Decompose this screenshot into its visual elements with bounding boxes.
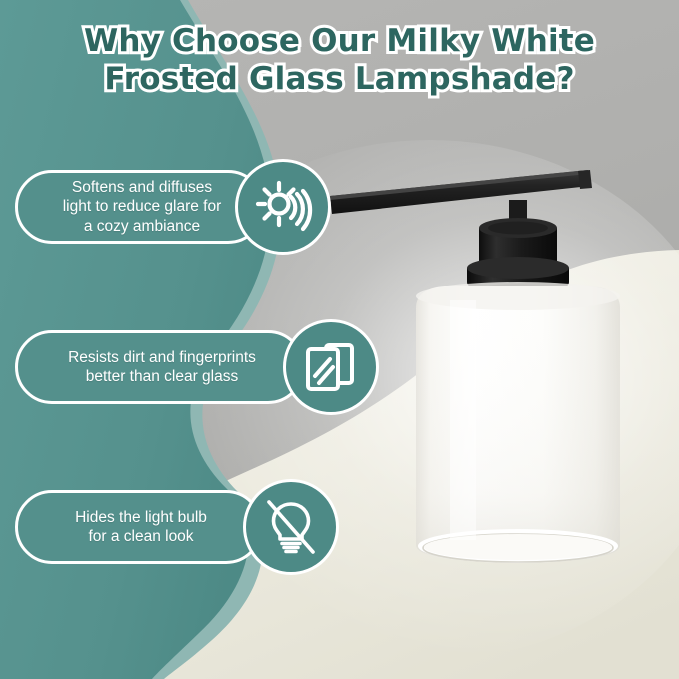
- lamp-arm: [330, 170, 592, 214]
- feature-label: Resists dirt and fingerprints better tha…: [50, 348, 270, 387]
- product-feature-infographic: Why Choose Our Milky White Frosted Glass…: [0, 0, 679, 679]
- feature-label: Softens and diffuses light to reduce gla…: [45, 178, 236, 237]
- feature-pill: Hides the light bulb for a clean look: [15, 490, 263, 564]
- sun-diffuse-icon: [235, 159, 331, 255]
- feature-pill: Resists dirt and fingerprints better tha…: [15, 330, 305, 404]
- frosted-glass-shade: [416, 282, 620, 563]
- feature-pill: Softens and diffuses light to reduce gla…: [15, 170, 265, 244]
- glass-panes-icon: [283, 319, 379, 415]
- feature-label: Hides the light bulb for a clean look: [57, 508, 221, 547]
- bulb-hidden-icon: [243, 479, 339, 575]
